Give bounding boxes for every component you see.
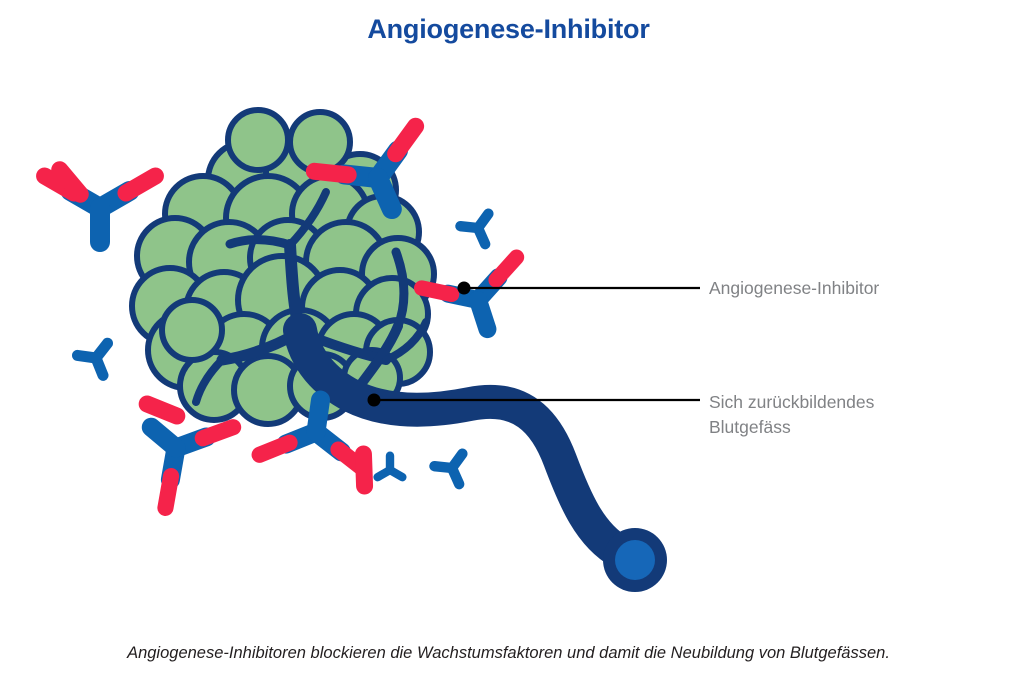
leader-dot-inhibitor: [458, 282, 471, 295]
tumor-cell-26: [228, 110, 288, 170]
antibody-arm-c: [77, 355, 96, 358]
callout-label-angiogenese-inhibitor: Angiogenese-Inhibitor: [709, 276, 879, 301]
figure-caption: Angiogenese-Inhibitoren blockieren die W…: [0, 644, 1017, 663]
antibody-ab-pointed[interactable]: [422, 257, 535, 344]
growth-factor-tip-left-low: [147, 404, 177, 416]
growth-factor-tip-mid-low: [363, 454, 364, 486]
antibody-ab-small-upper[interactable]: [459, 211, 489, 244]
antibody-arm-c: [434, 466, 452, 468]
antibody-ab-top-left[interactable]: [45, 176, 156, 242]
antibody-tip-b: [491, 257, 521, 280]
angiogenesis-illustration: [0, 0, 1017, 693]
growth-factor-bar: [147, 404, 177, 416]
diagram-canvas: Angiogenese-Inhibitor Angiogenese-Inhibi…: [0, 0, 1017, 693]
antibody-tip-b: [126, 176, 155, 193]
antibody-arm-c: [478, 300, 487, 329]
antibody-ab-small-low[interactable]: [433, 451, 463, 484]
tumor-cell-28: [162, 300, 222, 360]
antibody-ab-tiny-low[interactable]: [378, 456, 403, 477]
vessel-cap-inner: [615, 540, 655, 580]
growth-factor-bar: [363, 454, 364, 486]
antibody-tip-b: [260, 439, 290, 459]
antibody-ab-left-small[interactable]: [75, 339, 107, 375]
tumor-cell-27: [290, 112, 350, 172]
antibody-arm-c: [378, 178, 392, 209]
callout-label-regressing-vessel: Sich zurückbildendes Blutgefäss: [709, 390, 874, 440]
antibody-tip-b: [389, 126, 423, 154]
antibody-arm-c: [460, 226, 478, 228]
antibody-arm-c: [316, 400, 320, 432]
antibody-arm-c: [151, 427, 176, 448]
leader-dot-vessel: [368, 394, 381, 407]
